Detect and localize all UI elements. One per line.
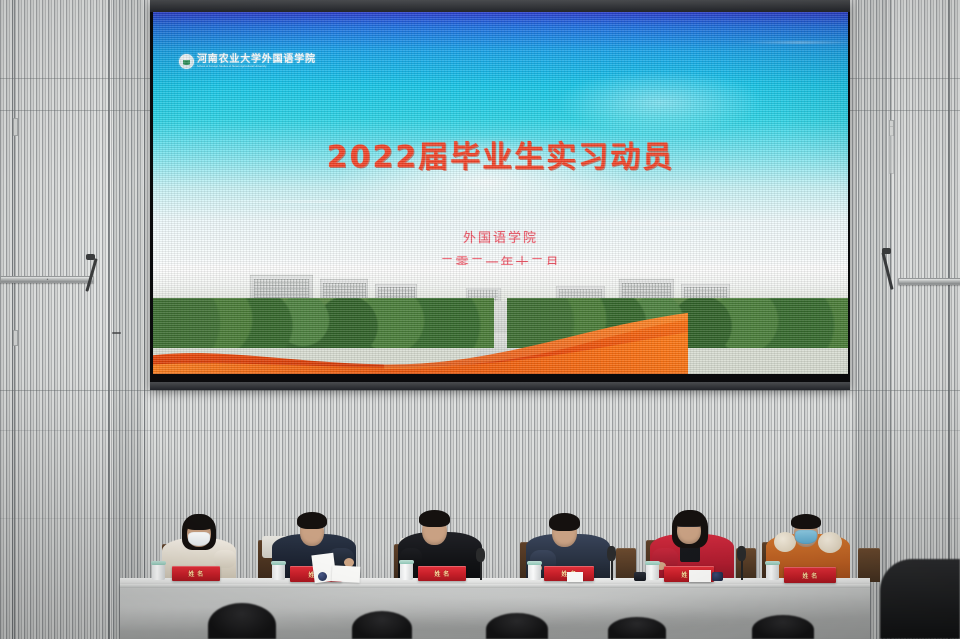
slide-cloud-streak bbox=[514, 222, 820, 226]
phone-on-table bbox=[634, 572, 646, 581]
panelist-5-glasses-icon bbox=[678, 526, 700, 532]
slide-logo-english: School of Foreign Studies of Henan Agric… bbox=[197, 66, 316, 68]
panelist-5-hair-top bbox=[674, 512, 704, 527]
audience-silhouette bbox=[486, 613, 548, 639]
paper-cup-lid-2 bbox=[271, 561, 286, 565]
phone-panelist-5 bbox=[712, 572, 723, 581]
microphone-3 bbox=[737, 546, 746, 561]
audience-silhouette bbox=[352, 611, 412, 639]
table-edge-highlight bbox=[120, 584, 870, 588]
microphone-1 bbox=[476, 548, 485, 562]
panelist-1-hair-top bbox=[185, 516, 213, 530]
paper-cup-lid-4 bbox=[527, 561, 542, 565]
panelist-3-hair bbox=[419, 510, 450, 527]
paper-cup-lid-6 bbox=[765, 561, 780, 565]
screen-bezel-top bbox=[150, 0, 850, 12]
conference-hall-photo: ▲ 河南农业大学外国语学院 School of Foreign bbox=[0, 0, 960, 639]
paper-cup-lid-5 bbox=[645, 561, 660, 565]
nameplate-6: 姓 名 bbox=[784, 567, 836, 583]
panelist-6-face-mask bbox=[795, 530, 817, 544]
panelist-6-fur-collar bbox=[818, 532, 842, 553]
led-screen-housing: 河南农业大学外国语学院 School of Foreign Studies of… bbox=[150, 0, 850, 390]
panelist-6-fur-collar bbox=[774, 532, 796, 552]
slide-logo: 河南农业大学外国语学院 School of Foreign Studies of… bbox=[179, 54, 316, 69]
panelist-6-hair bbox=[791, 514, 821, 529]
nameplate-1: 姓 名 bbox=[172, 566, 220, 581]
slide-orange-ribbon bbox=[153, 289, 688, 374]
led-screen-display: 河南农业大学外国语学院 School of Foreign Studies of… bbox=[153, 12, 848, 374]
panelist-2-hair bbox=[297, 512, 327, 529]
document-panelist-5 bbox=[689, 570, 711, 582]
panelist-4-hair bbox=[549, 513, 580, 531]
paper-cup-lid-1 bbox=[151, 561, 166, 565]
slide-cloud-streak bbox=[737, 41, 848, 44]
university-seal-icon bbox=[179, 54, 194, 69]
document-panelist-4 bbox=[567, 572, 583, 582]
slide-subtitle-line-1: 外国语学院 bbox=[153, 227, 848, 246]
microphone-2 bbox=[607, 546, 616, 561]
nameplate-3: 姓 名 bbox=[418, 566, 466, 581]
slide-title: 2022届毕业生实习动员 bbox=[153, 132, 848, 176]
small-object bbox=[318, 572, 327, 581]
slide-campus-panorama bbox=[153, 265, 848, 374]
slide-logo-chinese: 河南农业大学外国语学院 bbox=[197, 55, 316, 65]
panel-chair-back bbox=[858, 548, 880, 582]
audience-silhouette bbox=[752, 615, 814, 639]
document-sheet bbox=[332, 565, 361, 582]
audience-silhouette-foreground bbox=[880, 559, 960, 639]
screen-bezel-bottom bbox=[150, 382, 850, 390]
panelist-1-face-mask bbox=[188, 532, 210, 546]
audience-silhouette bbox=[608, 617, 666, 639]
panel-chair-back bbox=[616, 548, 636, 580]
paper-cup-lid-3 bbox=[399, 560, 414, 564]
audience-silhouette bbox=[208, 603, 276, 639]
